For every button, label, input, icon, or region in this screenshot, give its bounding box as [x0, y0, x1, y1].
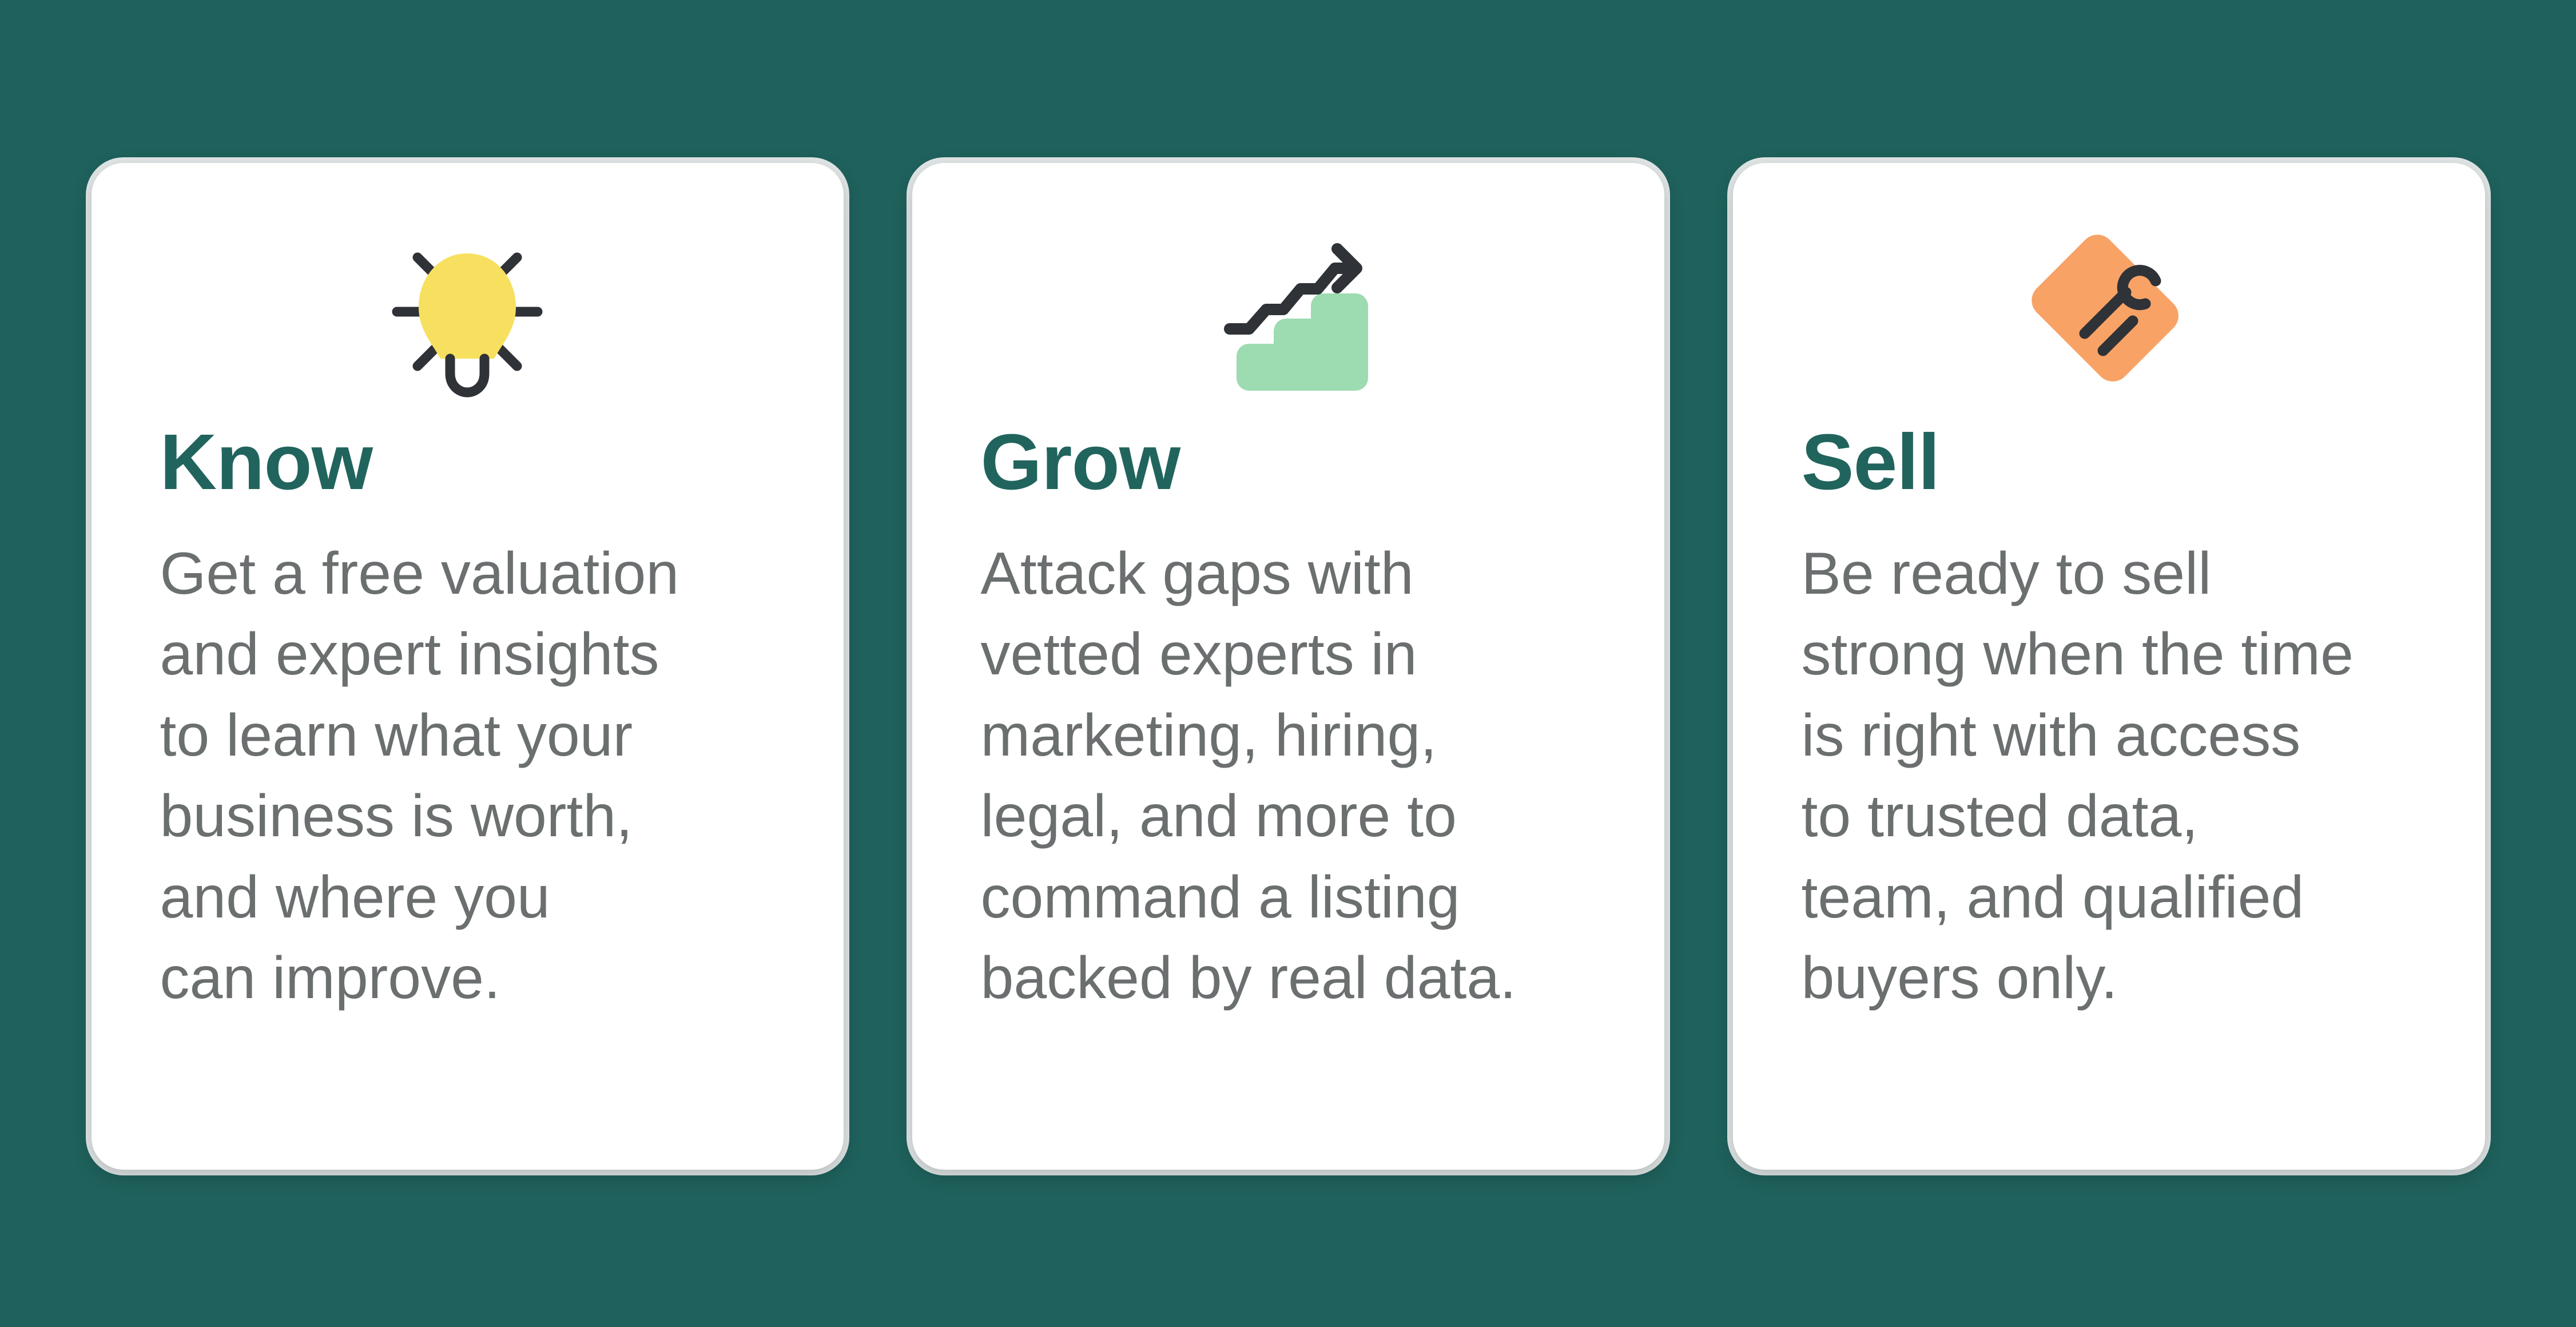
card-grow[interactable]: Grow Attack gaps with vetted experts in …	[912, 163, 1664, 1170]
card-know[interactable]: Know Get a free valuation and expert ins…	[92, 163, 844, 1170]
card-body-line: Attack gaps with	[981, 534, 1517, 614]
card-body-line: and where you	[160, 857, 679, 938]
cards-row: Know Get a free valuation and expert ins…	[92, 157, 2485, 1170]
card-title: Know	[160, 423, 373, 502]
card-sell[interactable]: Sell Be ready to sell strong when the ti…	[1733, 163, 2485, 1170]
card-body-line: marketing, hiring,	[981, 696, 1517, 776]
card-body-line: Be ready to sell	[1802, 534, 2354, 614]
growth-chart-icon	[981, 226, 1596, 398]
card-body-line: command a listing	[981, 857, 1517, 938]
feature-cards-section: Know Get a free valuation and expert ins…	[0, 0, 2576, 1327]
card-body-line: buyers only.	[1802, 938, 2354, 1019]
card-body-line: Get a free valuation	[160, 534, 679, 614]
card-body: Be ready to sell strong when the time is…	[1802, 534, 2354, 1019]
card-body-line: and expert insights	[160, 614, 679, 695]
card-body-line: business is worth,	[160, 776, 679, 857]
lightbulb-icon	[160, 226, 775, 398]
card-title: Sell	[1802, 423, 1939, 502]
price-tag-icon	[1802, 226, 2416, 398]
card-body-line: is right with access	[1802, 696, 2354, 776]
card-body-line: legal, and more to	[981, 776, 1517, 857]
card-title: Grow	[981, 423, 1180, 502]
card-body-line: can improve.	[160, 938, 679, 1019]
card-body: Attack gaps with vetted experts in marke…	[981, 534, 1517, 1019]
card-body-line: strong when the time	[1802, 614, 2354, 695]
card-body-line: to learn what your	[160, 696, 679, 776]
card-body-line: team, and qualified	[1802, 857, 2354, 938]
card-body-line: vetted experts in	[981, 614, 1517, 695]
card-body: Get a free valuation and expert insights…	[160, 534, 679, 1019]
card-body-line: backed by real data.	[981, 938, 1517, 1019]
card-body-line: to trusted data,	[1802, 776, 2354, 857]
